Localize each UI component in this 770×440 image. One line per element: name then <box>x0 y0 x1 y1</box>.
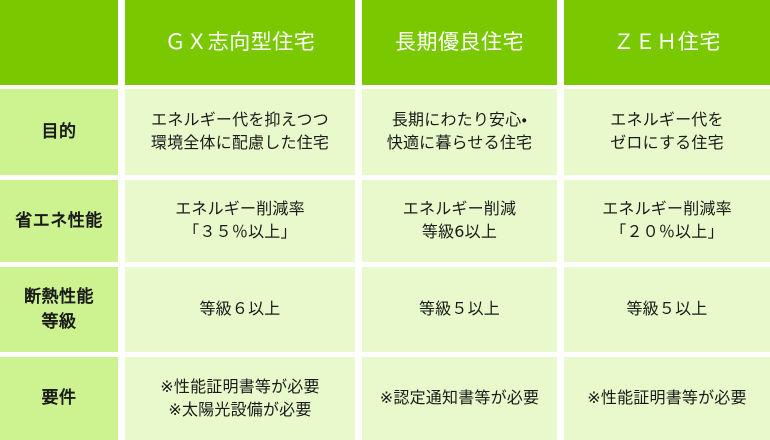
cell-purpose-choki-yuryo: 長期にわたり安心・ 快適に暮らせる住宅 <box>362 89 557 175</box>
column-header-zeh: ＺＥＨ住宅 <box>564 0 770 85</box>
cell-insulation-grade-gx: 等級６以上 <box>125 267 355 352</box>
row-label-requirements: 要件 <box>0 357 118 440</box>
cell-requirements-gx: ※性能証明書等が必要 ※太陽光設備が必要 <box>125 357 355 440</box>
cell-insulation-grade-choki-yuryo: 等級５以上 <box>362 267 557 352</box>
cell-energy-saving-choki-yuryo: エネルギー削減 等級6以上 <box>362 180 557 262</box>
column-gap <box>355 0 362 85</box>
column-gap <box>557 180 564 262</box>
row-label-energy-saving: 省エネ性能 <box>0 180 118 262</box>
column-gap <box>355 180 362 262</box>
cell-insulation-grade-zeh: 等級５以上 <box>564 267 770 352</box>
column-gap <box>118 180 125 262</box>
row-label-insulation-grade: 断熱性能 等級 <box>0 267 118 352</box>
cell-energy-saving-zeh: エネルギー削減率 「２０％以上」 <box>564 180 770 262</box>
column-gap <box>355 267 362 352</box>
cell-requirements-zeh: ※性能証明書等が必要 <box>564 357 770 440</box>
column-gap <box>355 89 362 175</box>
column-gap <box>557 89 564 175</box>
comparison-table: ＧＸ志向型住宅 長期優良住宅 ＺＥＨ住宅 目的 エネルギー代を抑えつつ 環境全体… <box>0 0 770 440</box>
table-corner-cell <box>0 0 118 85</box>
column-gap <box>118 357 125 440</box>
column-gap <box>118 89 125 175</box>
cell-energy-saving-gx: エネルギー削減率 「３５％以上」 <box>125 180 355 262</box>
column-header-choki-yuryo: 長期優良住宅 <box>362 0 557 85</box>
column-gap <box>557 267 564 352</box>
column-gap <box>118 0 125 85</box>
cell-purpose-zeh: エネルギー代を ゼロにする住宅 <box>564 89 770 175</box>
cell-purpose-gx: エネルギー代を抑えつつ 環境全体に配慮した住宅 <box>125 89 355 175</box>
cell-requirements-choki-yuryo: ※認定通知書等が必要 <box>362 357 557 440</box>
column-gap <box>355 357 362 440</box>
column-gap <box>118 267 125 352</box>
column-gap <box>557 0 564 85</box>
column-gap <box>557 357 564 440</box>
column-header-gx: ＧＸ志向型住宅 <box>125 0 355 85</box>
row-label-purpose: 目的 <box>0 89 118 175</box>
